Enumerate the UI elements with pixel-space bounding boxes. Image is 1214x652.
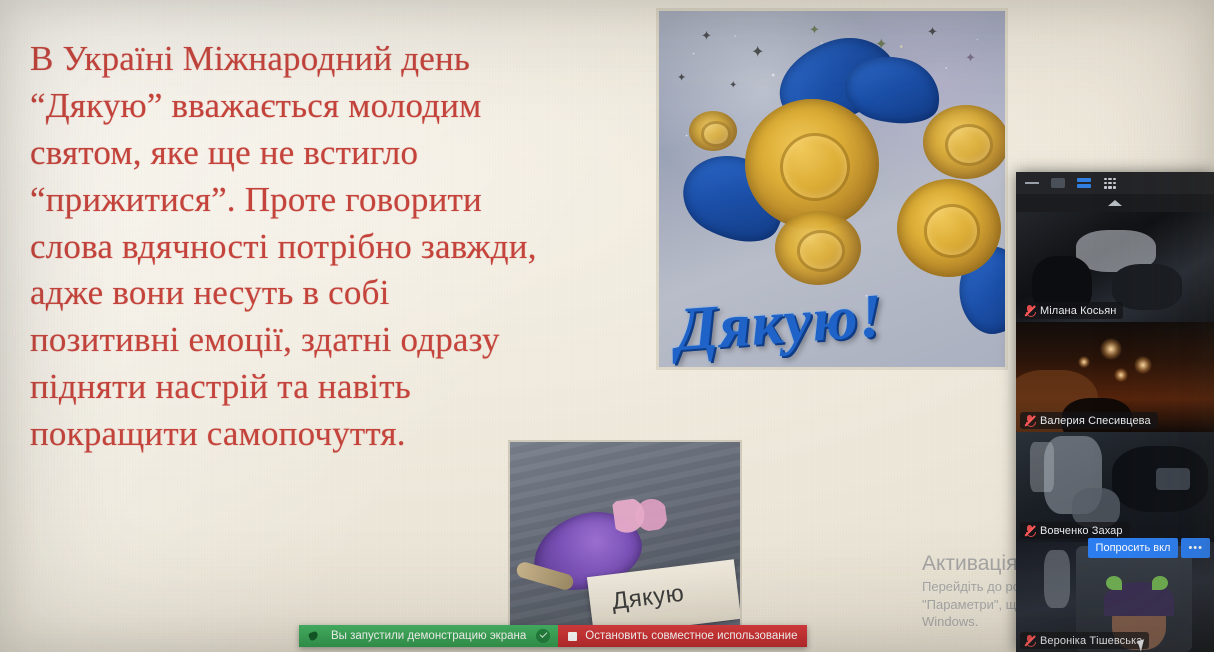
participant-nameplate: Мілана Косьян <box>1020 302 1123 319</box>
participant-tile[interactable]: Вовченко Захар <box>1016 432 1214 542</box>
participant-name: Валерия Спесивцева <box>1040 415 1151 427</box>
screen-share-toolbar[interactable]: Вы запустили демонстрацию экрана Останов… <box>299 625 807 647</box>
gallery-grid-icon[interactable] <box>1102 177 1118 189</box>
slide-line: позитивні емоції, здатні одразу <box>30 317 670 364</box>
chevron-up-icon <box>1108 200 1122 206</box>
phone-icon <box>307 629 321 643</box>
minimize-icon[interactable] <box>1024 177 1040 189</box>
ask-to-unmute-button[interactable]: Попросить вкл <box>1088 538 1179 558</box>
slide-line: “Дякую” вважається молодим <box>30 83 670 130</box>
shield-check-icon[interactable] <box>536 629 550 643</box>
mic-muted-icon <box>1024 304 1035 317</box>
zoom-participant-filmstrip[interactable]: Мілана Косьян Валерия Спесивцева <box>1016 172 1214 652</box>
slide-line: слова вдячності потрібно завжди, <box>30 224 670 271</box>
butterfly-icon <box>612 495 668 536</box>
ask-to-unmute-row[interactable]: Попросить вкл ••• <box>1088 538 1210 558</box>
sharing-status-label: Вы запустили демонстрацию экрана <box>331 630 526 642</box>
mic-muted-icon <box>1024 414 1035 427</box>
participant-name: Вероніка Тішевська <box>1040 635 1142 647</box>
shared-screen: В Україні Міжнародний день “Дякую” вважа… <box>0 0 1214 652</box>
participant-tile[interactable]: Валерия Спесивцева <box>1016 322 1214 432</box>
strip-view-icon[interactable] <box>1076 177 1092 189</box>
slide-body-text: В Україні Міжнародний день “Дякую” вважа… <box>30 36 670 458</box>
slide-line: В Україні Міжнародний день <box>30 36 670 83</box>
paper-tag-text: Дякую <box>610 580 685 617</box>
slide-line: адже вони несуть в собі <box>30 270 670 317</box>
collapse-filmstrip-button[interactable] <box>1016 194 1214 212</box>
slide-line: підняти настрій та навіть <box>30 364 670 411</box>
participant-nameplate: Валерия Спесивцева <box>1020 412 1158 429</box>
greeting-card-image: ✦ ✦ ✦ ✦ ✦ ✦ ✦ ✦ ✦ Дякую! <box>656 8 1008 370</box>
participant-tile[interactable]: Мілана Косьян <box>1016 212 1214 322</box>
participant-name: Мілана Косьян <box>1040 305 1116 317</box>
stop-square-icon <box>568 632 577 641</box>
mic-muted-icon <box>1024 634 1035 647</box>
mic-muted-icon <box>1024 524 1035 537</box>
zoom-window-controls[interactable] <box>1016 172 1214 194</box>
slide-line: святом, яке ще не встигло <box>30 130 670 177</box>
stop-sharing-button[interactable]: Остановить совместное использование <box>558 625 807 647</box>
participant-nameplate: Вероніка Тішевська <box>1020 632 1149 649</box>
card-caption: Дякую! <box>673 281 886 366</box>
sharing-status-bar[interactable]: Вы запустили демонстрацию экрана <box>299 625 558 647</box>
hyacinth-photo: Дякую <box>508 440 742 640</box>
participant-nameplate: Вовченко Захар <box>1020 522 1130 539</box>
slide-line: “прижитися”. Проте говорити <box>30 177 670 224</box>
single-view-icon[interactable] <box>1050 177 1066 189</box>
more-options-button[interactable]: ••• <box>1181 538 1210 558</box>
stop-sharing-label: Остановить совместное использование <box>585 630 797 642</box>
participant-name: Вовченко Захар <box>1040 525 1123 537</box>
participant-tile[interactable]: Вероніка Тішевська <box>1016 542 1214 652</box>
